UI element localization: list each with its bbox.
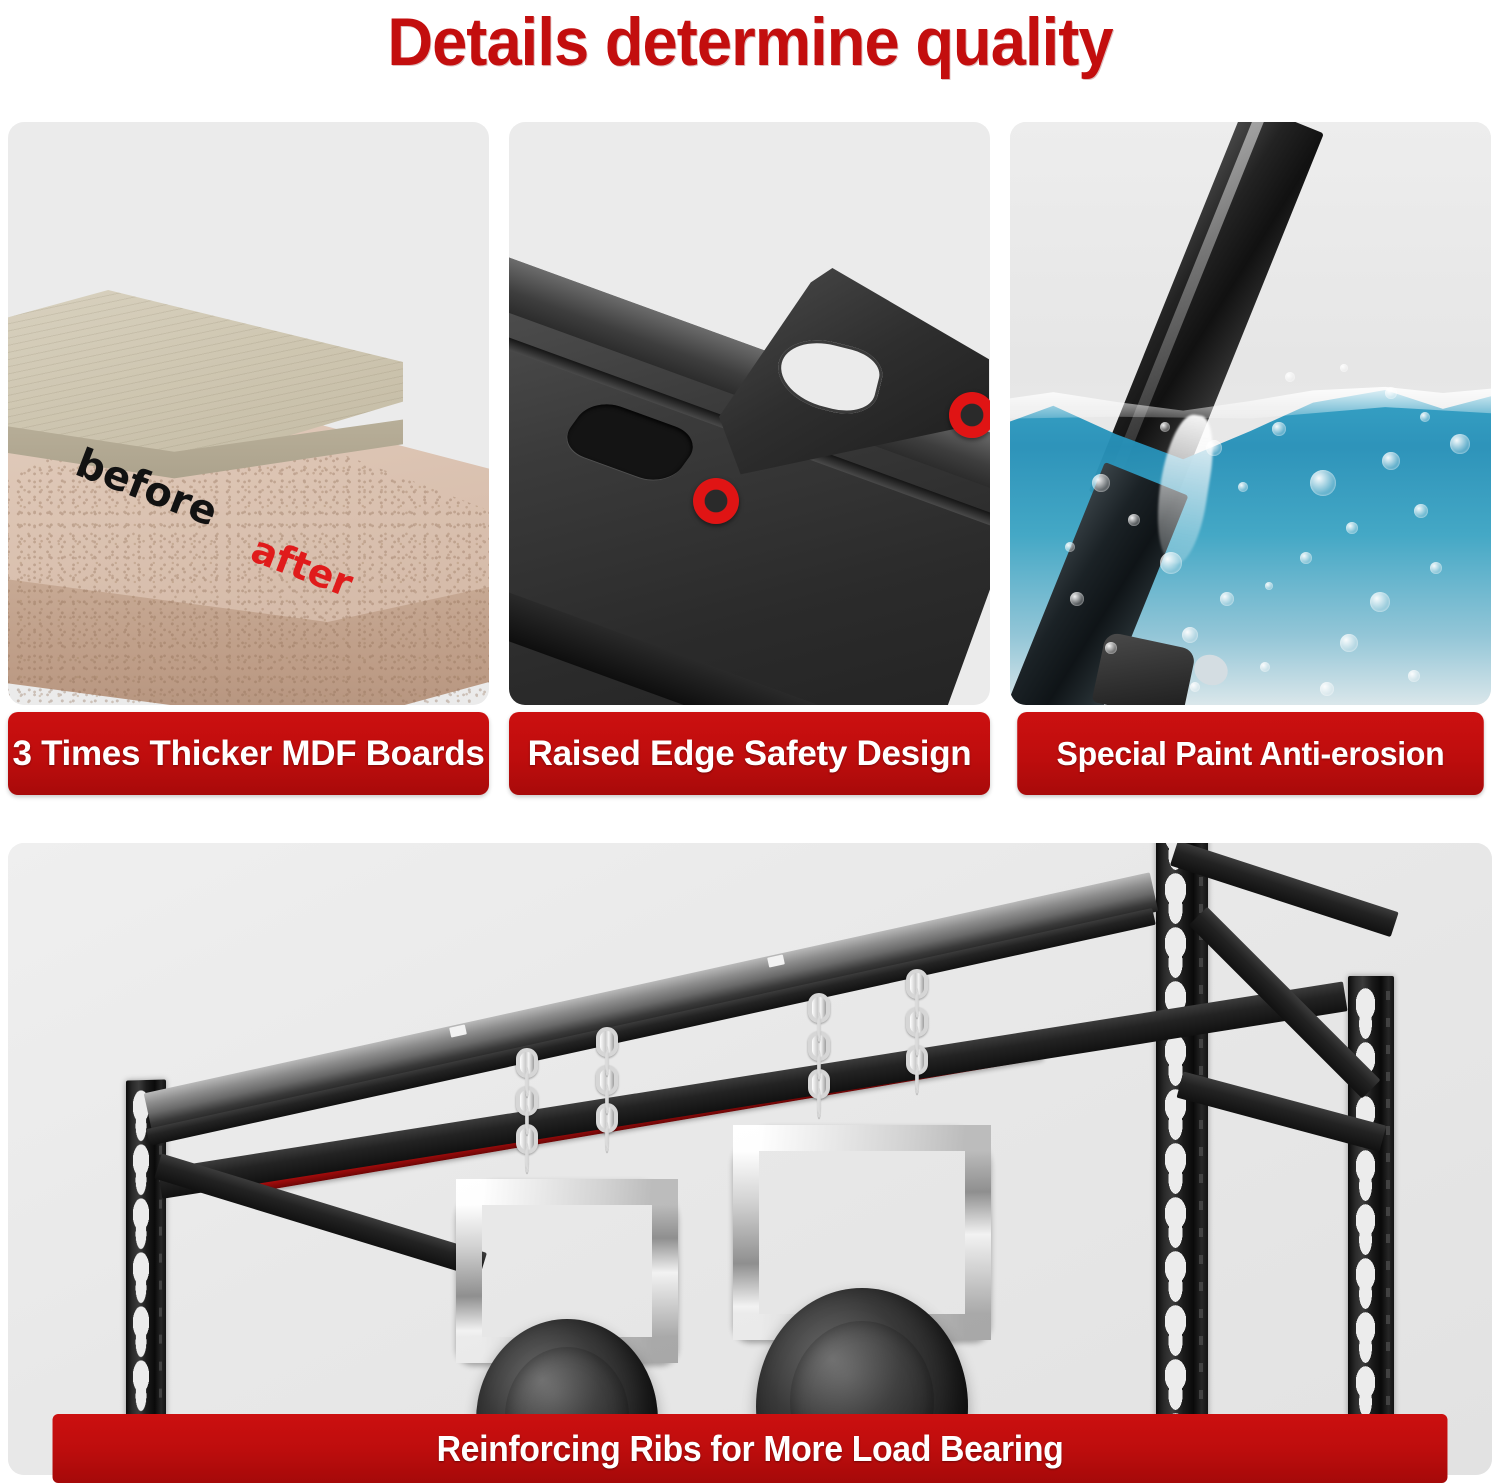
water-immersion-illustration	[1010, 122, 1491, 705]
feature-card-mdf-boards[interactable]: before after 3 Times Thicker MDF Boards	[8, 122, 489, 795]
water-bubble	[1420, 412, 1430, 422]
water-bubble	[1346, 522, 1358, 534]
water-bubble	[1092, 474, 1110, 492]
chain-link	[605, 1046, 609, 1076]
water-bubble	[1310, 470, 1336, 496]
water-bubble	[1265, 582, 1273, 590]
rivet-highlight-icon	[693, 478, 739, 524]
water-bubble	[1408, 670, 1420, 682]
water-bubble	[1190, 682, 1200, 692]
water-bubble	[1414, 504, 1428, 518]
anti-erosion-photo	[1010, 122, 1491, 705]
caption-raised-edge: Raised Edge Safety Design	[509, 712, 990, 795]
water-bubble	[1340, 634, 1358, 652]
upright-edge-holes	[1386, 991, 1390, 1471]
chain-left-a	[516, 1048, 538, 1162]
water-bubble	[1300, 552, 1312, 564]
reinforcing-ribs-photo	[8, 843, 1492, 1475]
rack-upright-back-right	[1156, 843, 1208, 1475]
water-bubble	[1370, 592, 1390, 612]
water-bubble	[1182, 627, 1198, 643]
upright-slot-pattern	[1165, 843, 1186, 1469]
chain-right-a	[808, 993, 830, 1107]
chain-left-b	[596, 1027, 618, 1141]
infographic-page: Details determine quality before after 3…	[0, 0, 1500, 1483]
caption-mdf-boards: 3 Times Thicker MDF Boards	[8, 712, 489, 795]
rack-upright-front-right	[1348, 976, 1394, 1475]
water-bubble	[1070, 592, 1084, 606]
water-bubble	[1382, 452, 1400, 470]
water-bubble	[1285, 372, 1295, 382]
shelving-rack-illustration	[8, 843, 1492, 1475]
water-bubble	[1065, 542, 1075, 552]
caption-anti-erosion: Special Paint Anti-erosion	[1017, 712, 1484, 795]
steel-beam-illustration	[509, 122, 990, 705]
chain-link	[817, 1088, 821, 1118]
feature-card-anti-erosion[interactable]: Special Paint Anti-erosion	[1010, 122, 1491, 795]
mdf-boards-photo: before after	[8, 122, 489, 705]
chain-link	[915, 1026, 919, 1056]
water-bubble	[1220, 592, 1234, 606]
feature-card-row: before after 3 Times Thicker MDF Boards	[8, 122, 1492, 795]
chain-link	[605, 1122, 609, 1152]
water-bubble	[1105, 642, 1117, 654]
raised-edge-photo	[509, 122, 990, 705]
caption-reinforcing-ribs: Reinforcing Ribs for More Load Bearing	[53, 1414, 1448, 1483]
water-bubble	[1160, 552, 1182, 574]
water-bubble	[1385, 387, 1397, 399]
mdf-board-illustration: before after	[8, 122, 489, 705]
chain-link	[817, 1050, 821, 1080]
chain-right-b	[906, 969, 928, 1083]
water-bubble	[1272, 422, 1286, 436]
water-bubble	[1320, 682, 1334, 696]
water-bubble	[1430, 562, 1442, 574]
chain-link	[525, 1143, 529, 1173]
water-bubble	[1206, 440, 1222, 456]
chain-link	[525, 1067, 529, 1097]
water-bubble	[1238, 482, 1248, 492]
water-bubble	[1160, 422, 1170, 432]
rivet-highlight-icon	[949, 392, 990, 438]
chain-link	[915, 1064, 919, 1094]
chain-link	[525, 1105, 529, 1135]
chain-link	[817, 1012, 821, 1042]
page-title: Details determine quality	[53, 4, 1448, 80]
water-bubble	[1450, 434, 1470, 454]
feature-card-raised-edge[interactable]: Raised Edge Safety Design	[509, 122, 990, 795]
water-bubble	[1340, 364, 1348, 372]
chain-link	[605, 1084, 609, 1114]
water-bubble	[1260, 662, 1270, 672]
chain-link	[915, 988, 919, 1018]
water-bubble	[1128, 514, 1140, 526]
